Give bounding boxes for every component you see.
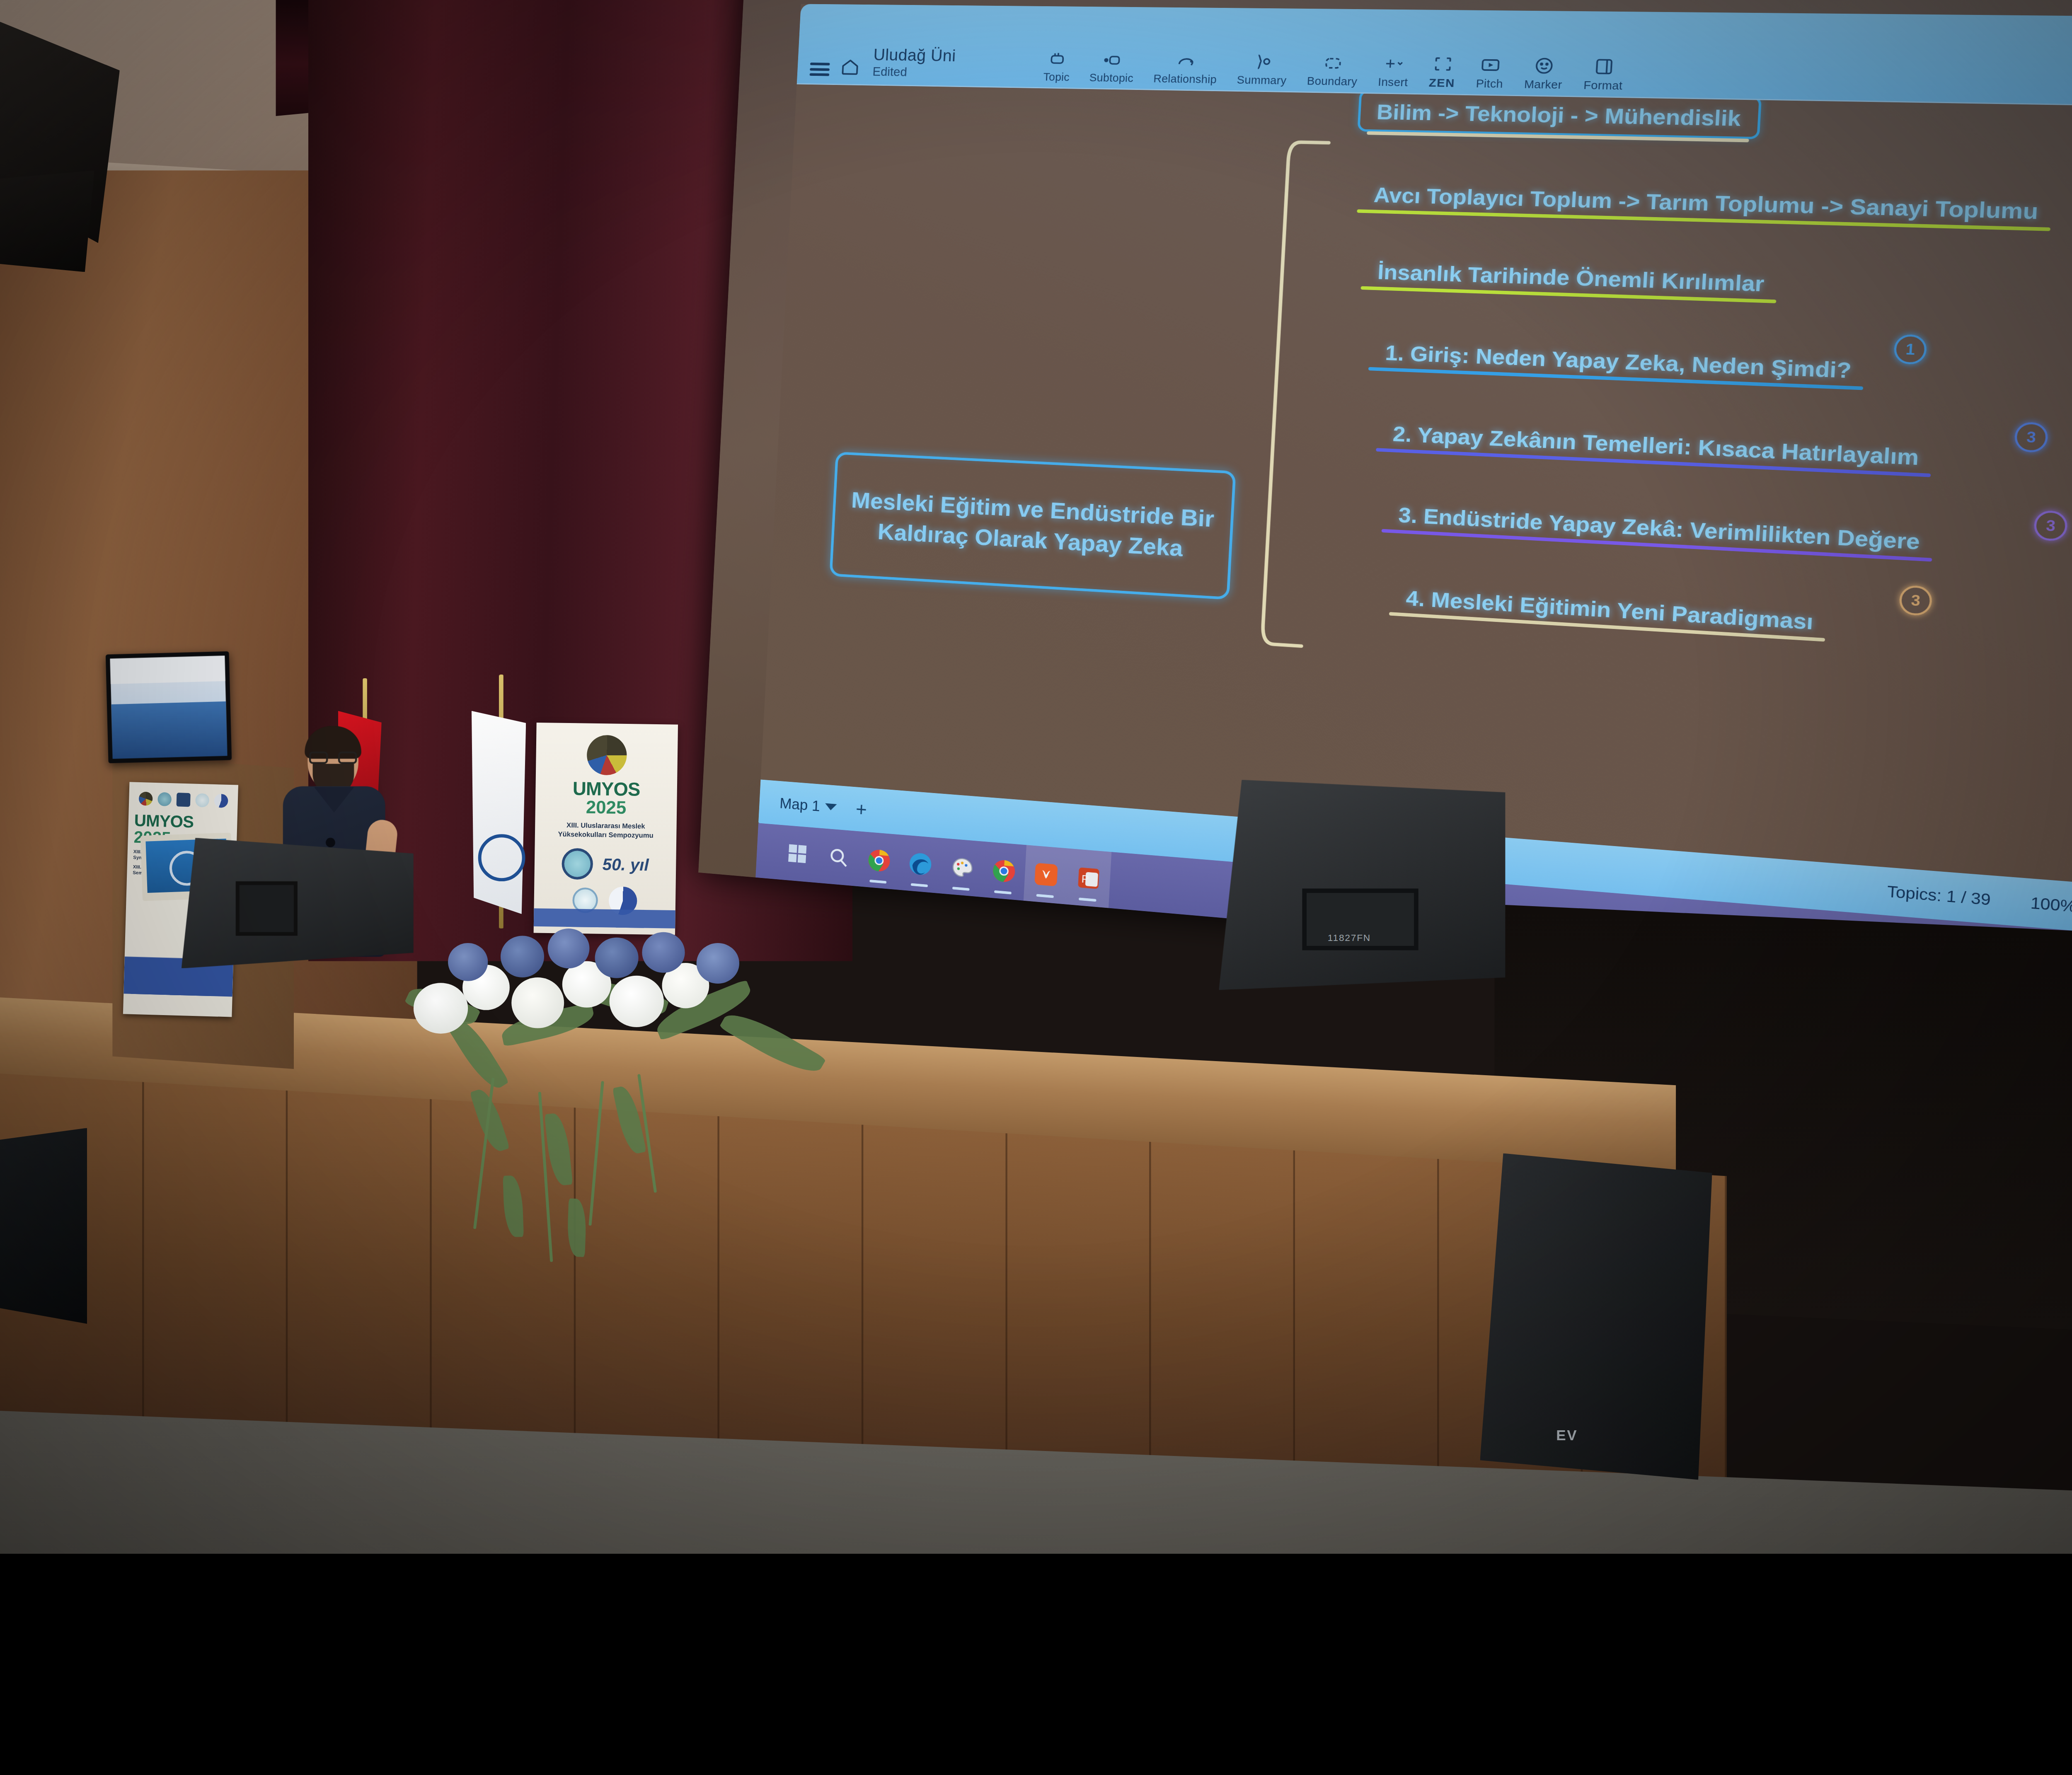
rollup-anniversary: 50. yıl <box>602 854 649 875</box>
powerpoint-icon[interactable]: P <box>1066 849 1111 908</box>
zoom-control[interactable]: 100% <box>2030 894 2072 917</box>
topics-count-label: Topics: 1 / 39 <box>1887 883 1991 909</box>
floor-pa-speaker: EV <box>1480 1154 1712 1480</box>
branch-label: Bilim -> Teknoloji - > Mühendislik <box>1376 99 1742 131</box>
stage-foreground <box>0 918 2072 1554</box>
map-tab[interactable]: Map 1 <box>779 795 837 816</box>
branch-label: Avcı Toplayıcı Toplum -> Tarım Toplumu -… <box>1373 182 2039 231</box>
toolbar-label: Format <box>1583 79 1623 92</box>
anniversary-50-icon <box>177 793 191 807</box>
branch-badge[interactable]: 3 <box>2033 510 2068 542</box>
branch-badge[interactable]: 1 <box>1893 334 1927 365</box>
toolbar-label: Summary <box>1237 74 1287 87</box>
edge-icon[interactable] <box>898 835 943 894</box>
add-sheet-button[interactable]: + <box>853 798 869 821</box>
branch-label: 1. Giriş: Neden Yapay Zeka, Neden Şimdi? <box>1384 340 1852 390</box>
flower-arrangement <box>392 921 856 1356</box>
ceiling-speaker-secondary-icon <box>0 170 94 272</box>
speaker-model-label: 11827FN <box>1328 932 1371 943</box>
toolbar-label: Pitch <box>1476 77 1503 90</box>
paint-icon[interactable] <box>940 838 985 897</box>
branch-node[interactable]: 1. Giriş: Neden Yapay Zeka, Neden Şimdi?… <box>1384 340 1852 390</box>
stage-monitor-speaker <box>182 838 414 968</box>
floor-equipment-case <box>0 1128 87 1324</box>
windows-start-icon[interactable] <box>776 825 819 883</box>
central-topic-label: Mesleki Eğitim ve Endüstride Bir Kaldıra… <box>834 484 1232 566</box>
toolbar-label: Subtopic <box>1089 72 1134 85</box>
branch-list: Bilim -> Teknoloji - > Mühendislik Avcı … <box>1296 93 2072 893</box>
branch-node[interactable]: 4. Mesleki Eğitimin Yeni Paradigması 3 <box>1405 585 1814 641</box>
chrome-icon[interactable] <box>857 832 901 890</box>
chrome-icon[interactable] <box>981 842 1026 901</box>
toolbar-item-subtopic[interactable]: Subtopic <box>1079 50 1145 85</box>
branch-badge[interactable]: 3 <box>2014 422 2049 453</box>
rollup-year: 2025 <box>542 797 670 818</box>
window-title: Uludağ Üni <box>873 46 956 65</box>
speaker-brand-label: EV <box>1556 1427 1578 1444</box>
rollup-banner: UMYOS 2025 XIII. Uluslararası Meslek Yük… <box>534 723 678 935</box>
branch-node[interactable]: Avcı Toplayıcı Toplum -> Tarım Toplumu -… <box>1373 182 2039 231</box>
university-seal-icon <box>562 848 593 880</box>
home-icon[interactable] <box>840 57 860 78</box>
toolbar-item-pitch[interactable]: Pitch <box>1465 55 1515 91</box>
zoom-level-label: 100% <box>2030 894 2072 916</box>
toolbar-label: ZEN <box>1428 76 1455 90</box>
map-tab-label: Map 1 <box>779 795 820 814</box>
toolbar-item-summary[interactable]: Summary <box>1227 51 1298 87</box>
umyos-globe-icon <box>139 792 153 806</box>
confidence-monitor <box>106 651 232 763</box>
screenshot-stage: Uludağ Üni Edited Topic Subtopic <box>0 0 2072 1554</box>
partner-logo-icon <box>195 793 209 807</box>
lapel-mic-icon <box>326 838 335 847</box>
branch-label: 2. Yapay Zekânın Temelleri: Kısaca Hatır… <box>1392 421 1920 476</box>
svg-text:P: P <box>1081 873 1089 885</box>
eyeglasses-icon <box>309 752 357 764</box>
branch-node[interactable]: 3. Endüstride Yapay Zekâ: Verimlilikten … <box>1397 502 1920 561</box>
stage-monitor-speaker: 11827FN <box>1219 780 1506 990</box>
toolbar-item-format[interactable]: Format <box>1573 56 1635 92</box>
partner-logo-icon <box>214 794 228 808</box>
partner-logo-icon <box>157 792 172 806</box>
toolbar-item-boundary[interactable]: Boundary <box>1296 53 1369 88</box>
branch-badge[interactable]: 3 <box>1899 585 1933 616</box>
toolbar-label: Topic <box>1043 71 1070 84</box>
central-topic-node[interactable]: Mesleki Eğitim ve Endüstride Bir Kaldıra… <box>829 452 1236 600</box>
toolbar-item-marker[interactable]: Marker <box>1513 55 1575 92</box>
hamburger-icon[interactable] <box>809 61 830 78</box>
toolbar-label: Boundary <box>1307 75 1358 88</box>
toolbar-label: Relationship <box>1153 73 1217 86</box>
rollup-subtitle: XIII. Uluslararası Meslek Yüksekokulları… <box>542 820 670 840</box>
branch-label: 4. Mesleki Eğitimin Yeni Paradigması <box>1405 585 1814 641</box>
university-flag <box>472 711 526 914</box>
umyos-globe-icon <box>587 735 627 776</box>
xmind-icon[interactable] <box>1024 845 1069 904</box>
toolbar-item-topic[interactable]: Topic <box>1033 49 1081 84</box>
university-seal-icon <box>478 834 525 881</box>
branch-node[interactable]: 2. Yapay Zekânın Temelleri: Kısaca Hatır… <box>1392 421 1920 476</box>
toolbar-label: Marker <box>1524 78 1562 91</box>
toolbar-label: Insert <box>1378 76 1409 89</box>
branch-node[interactable]: İnsanlık Tarihinde Önemli Kırılımlar <box>1377 259 1765 303</box>
toolbar-actions: Topic Subtopic Relationship Summary <box>1033 48 1635 92</box>
toolbar-item-zen[interactable]: ZEN <box>1418 54 1467 90</box>
branch-underline <box>1367 131 1749 143</box>
chevron-down-icon[interactable] <box>825 803 837 811</box>
toolbar-item-insert[interactable]: Insert <box>1367 53 1420 89</box>
branch-label: 3. Endüstride Yapay Zekâ: Verimlilikten … <box>1397 502 1920 561</box>
rollup-title: UMYOS <box>542 779 670 799</box>
mindmap-canvas[interactable]: Mesleki Eğitim ve Endüstride Bir Kaldıra… <box>761 84 2072 894</box>
save-state-label: Edited <box>872 65 955 80</box>
search-icon[interactable] <box>816 828 860 886</box>
toolbar-item-relationship[interactable]: Relationship <box>1143 51 1228 86</box>
